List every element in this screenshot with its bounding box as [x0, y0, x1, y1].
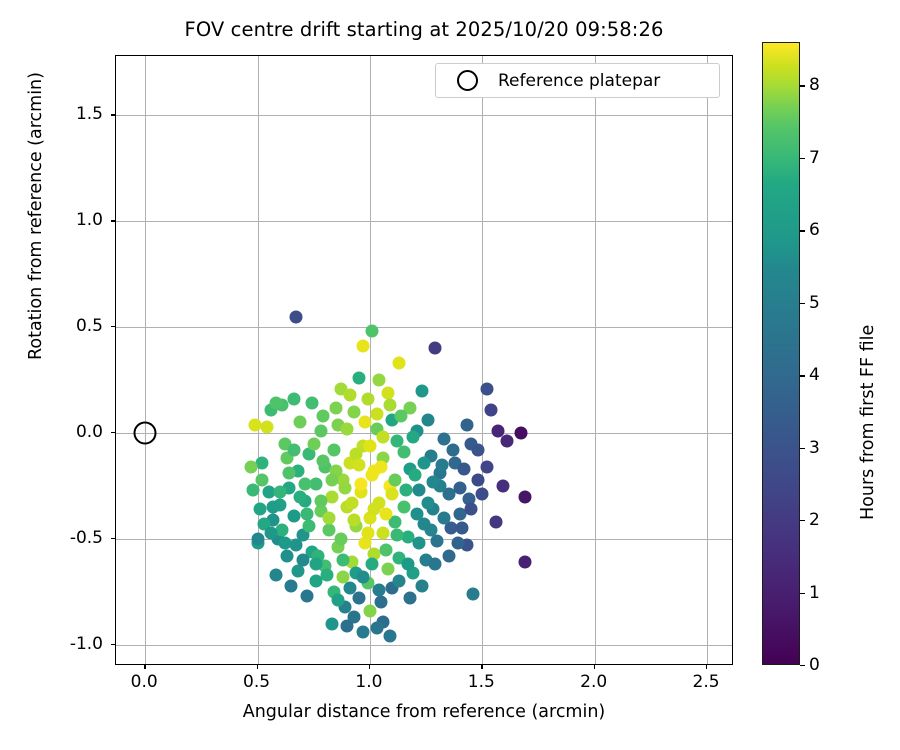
- scatter-point: [327, 443, 340, 456]
- scatter-point: [447, 443, 460, 456]
- legend-label-reference: Reference platepar: [498, 71, 660, 91]
- x-tick: [481, 665, 482, 669]
- colorbar-label: Hours from first FF file: [858, 325, 878, 520]
- scatter-point: [301, 590, 314, 603]
- scatter-point: [438, 511, 451, 524]
- scatter-point: [287, 393, 300, 406]
- scatter-point: [411, 507, 424, 520]
- scatter-point: [310, 477, 323, 490]
- scatter-point: [278, 537, 291, 550]
- scatter-point: [341, 619, 354, 632]
- scatter-point: [501, 435, 514, 448]
- x-tick: [706, 665, 707, 669]
- scatter-point: [287, 509, 300, 522]
- scatter-point: [314, 494, 327, 507]
- scatter-point: [334, 532, 347, 545]
- y-axis-label: Rotation from reference (arcmin): [26, 72, 46, 360]
- scatter-point: [256, 473, 269, 486]
- scatter-point: [357, 626, 370, 639]
- scatter-point: [377, 526, 390, 539]
- scatter-point: [465, 503, 478, 516]
- scatter-point: [368, 465, 381, 478]
- scatter-point: [514, 427, 527, 440]
- scatter-point: [424, 524, 437, 537]
- y-tick: [111, 326, 115, 327]
- scatter-point: [301, 507, 314, 520]
- scatter-point: [417, 456, 430, 469]
- scatter-point: [321, 568, 334, 581]
- scatter-point: [388, 473, 401, 486]
- scatter-point: [485, 403, 498, 416]
- scatter-point: [386, 488, 399, 501]
- scatter-point: [372, 374, 385, 387]
- colorbar-tick: [800, 230, 805, 231]
- scatter-point: [379, 543, 392, 556]
- chart-title: FOV centre drift starting at 2025/10/20 …: [115, 18, 733, 41]
- scatter-point: [341, 422, 354, 435]
- scatter-point: [244, 460, 257, 473]
- scatter-point: [314, 424, 327, 437]
- scatter-point: [372, 583, 385, 596]
- y-tick-label: -0.5: [70, 528, 103, 548]
- scatter-point: [489, 515, 502, 528]
- scatter-point: [310, 558, 323, 571]
- scatter-point: [366, 558, 379, 571]
- scatter-point: [426, 475, 439, 488]
- y-tick: [111, 644, 115, 645]
- colorbar-gradient: [762, 42, 800, 665]
- scatter-point: [352, 371, 365, 384]
- colorbar-tick: [800, 593, 805, 594]
- scatter-point: [390, 528, 403, 541]
- scatter-point: [361, 526, 374, 539]
- y-tick: [111, 220, 115, 221]
- scatter-point: [460, 418, 473, 431]
- scatter-point: [397, 446, 410, 459]
- colorbar-tick: [800, 303, 805, 304]
- x-tick: [594, 665, 595, 669]
- scatter-point: [357, 571, 370, 584]
- scatter-point: [397, 501, 410, 514]
- scatter-point: [395, 410, 408, 423]
- scatter-point: [442, 549, 455, 562]
- scatter-point: [422, 414, 435, 427]
- scatter-point: [384, 399, 397, 412]
- y-tick-label: 0.0: [76, 422, 103, 442]
- scatter-point: [480, 460, 493, 473]
- scatter-point: [253, 503, 266, 516]
- colorbar-tick-label: 4: [809, 365, 820, 385]
- scatter-layer: [116, 56, 732, 664]
- scatter-point: [429, 342, 442, 355]
- scatter-point: [354, 477, 367, 490]
- colorbar-tick: [800, 520, 805, 521]
- scatter-point: [247, 484, 260, 497]
- scatter-point: [260, 420, 273, 433]
- scatter-point: [289, 310, 302, 323]
- x-tick-label: 0.5: [243, 672, 270, 692]
- scatter-point: [343, 581, 356, 594]
- scatter-point: [294, 416, 307, 429]
- scatter-point: [269, 568, 282, 581]
- scatter-point: [377, 431, 390, 444]
- colorbar-tick-label: 6: [809, 220, 820, 240]
- y-tick-label: 1.0: [76, 210, 103, 230]
- scatter-point: [404, 592, 417, 605]
- scatter-point: [480, 382, 493, 395]
- colorbar-tick: [800, 85, 805, 86]
- scatter-point: [363, 604, 376, 617]
- colorbar-tick: [800, 158, 805, 159]
- y-tick: [111, 114, 115, 115]
- x-tick: [144, 665, 145, 669]
- scatter-point: [519, 556, 532, 569]
- legend-marker-reference: [450, 70, 484, 91]
- scatter-point: [429, 558, 442, 571]
- scatter-point: [415, 384, 428, 397]
- scatter-point: [336, 554, 349, 567]
- scatter-point: [345, 496, 358, 509]
- scatter-point: [393, 575, 406, 588]
- scatter-point: [251, 532, 264, 545]
- y-tick: [111, 432, 115, 433]
- scatter-point: [276, 524, 289, 537]
- x-tick-label: 1.5: [468, 672, 495, 692]
- x-tick-label: 0.0: [131, 672, 158, 692]
- scatter-point: [435, 458, 448, 471]
- scatter-point: [471, 443, 484, 456]
- scatter-point: [413, 537, 426, 550]
- scatter-point: [370, 407, 383, 420]
- scatter-point: [296, 554, 309, 567]
- scatter-point: [330, 401, 343, 414]
- scatter-point: [325, 617, 338, 630]
- scatter-point: [332, 594, 345, 607]
- scatter-point: [471, 473, 484, 486]
- scatter-point: [393, 357, 406, 370]
- colorbar-tick-label: 2: [809, 510, 820, 530]
- x-tick-label: 2.0: [580, 672, 607, 692]
- scatter-point: [305, 397, 318, 410]
- scatter-point: [422, 496, 435, 509]
- scatter-point: [359, 416, 372, 429]
- y-tick: [111, 538, 115, 539]
- scatter-point: [352, 458, 365, 471]
- open-circle-icon: [457, 70, 478, 91]
- reference-platepar-marker[interactable]: [134, 422, 157, 445]
- colorbar-tick-label: 3: [809, 438, 820, 458]
- scatter-point: [269, 397, 282, 410]
- scatter-point: [280, 549, 293, 562]
- x-tick: [369, 665, 370, 669]
- scatter-point: [325, 473, 338, 486]
- scatter-point: [408, 469, 421, 482]
- scatter-point: [406, 431, 419, 444]
- scatter-point: [381, 386, 394, 399]
- scatter-point: [274, 486, 287, 499]
- scatter-point: [379, 507, 392, 520]
- scatter-point: [348, 405, 361, 418]
- scatter-point: [519, 490, 532, 503]
- scatter-point: [307, 437, 320, 450]
- scatter-point: [375, 596, 388, 609]
- scatter-point: [467, 587, 480, 600]
- plot-area[interactable]: [115, 55, 733, 665]
- scatter-point: [339, 482, 352, 495]
- scatter-point: [453, 482, 466, 495]
- x-tick-label: 2.5: [693, 672, 720, 692]
- scatter-point: [267, 501, 280, 514]
- scatter-point: [415, 579, 428, 592]
- scatter-point: [303, 520, 316, 533]
- y-tick-label: -1.0: [70, 634, 103, 654]
- x-tick-label: 1.0: [355, 672, 382, 692]
- colorbar-tick-label: 1: [809, 583, 820, 603]
- scatter-point: [496, 479, 509, 492]
- scatter-point: [370, 621, 383, 634]
- scatter-point: [476, 488, 489, 501]
- scatter-point: [413, 484, 426, 497]
- y-tick-label: 1.5: [76, 104, 103, 124]
- scatter-point: [283, 467, 296, 480]
- scatter-point: [348, 513, 361, 526]
- scatter-point: [294, 490, 307, 503]
- scatter-point: [402, 558, 415, 571]
- colorbar-tick: [800, 375, 805, 376]
- x-tick: [257, 665, 258, 669]
- colorbar-tick-label: 8: [809, 75, 820, 95]
- colorbar-tick-label: 0: [809, 655, 820, 675]
- scatter-point: [289, 539, 302, 552]
- scatter-point: [323, 511, 336, 524]
- scatter-point: [285, 579, 298, 592]
- scatter-point: [298, 477, 311, 490]
- colorbar-tick: [800, 665, 805, 666]
- legend-box[interactable]: Reference platepar: [435, 63, 720, 98]
- scatter-point: [316, 454, 329, 467]
- scatter-point: [363, 439, 376, 452]
- scatter-point: [325, 490, 338, 503]
- colorbar-tick: [800, 448, 805, 449]
- scatter-point: [316, 410, 329, 423]
- figure-canvas: FOV centre drift starting at 2025/10/20 …: [0, 0, 900, 750]
- scatter-point: [343, 388, 356, 401]
- scatter-point: [361, 393, 374, 406]
- colorbar-tick-label: 7: [809, 148, 820, 168]
- scatter-point: [458, 463, 471, 476]
- scatter-point: [265, 526, 278, 539]
- colorbar-tick-label: 5: [809, 293, 820, 313]
- scatter-point: [456, 522, 469, 535]
- scatter-point: [451, 537, 464, 550]
- scatter-point: [352, 592, 365, 605]
- scatter-point: [287, 443, 300, 456]
- x-axis-label: Angular distance from reference (arcmin): [115, 702, 733, 722]
- scatter-point: [357, 340, 370, 353]
- y-tick-label: 0.5: [76, 316, 103, 336]
- scatter-point: [366, 325, 379, 338]
- scatter-point: [384, 630, 397, 643]
- scatter-point: [381, 562, 394, 575]
- scatter-point: [399, 484, 412, 497]
- scatter-point: [256, 456, 269, 469]
